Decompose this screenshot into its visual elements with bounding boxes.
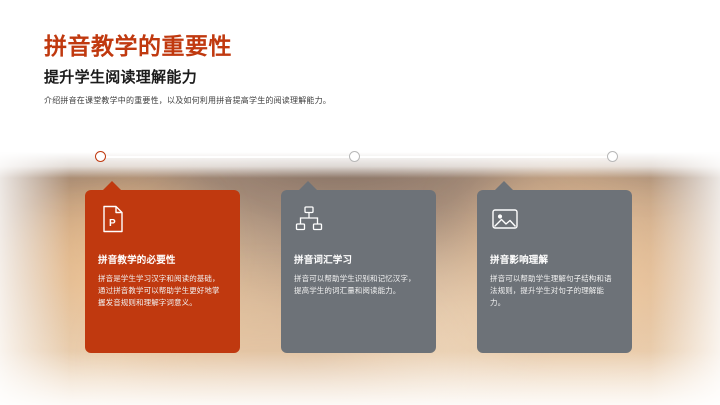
slide-canvas: 拼音教学的重要性 提升学生阅读理解能力 介绍拼音在课堂教学中的重要性，以及如何利… (0, 0, 720, 405)
timeline (100, 156, 613, 158)
hierarchy-network-icon (294, 204, 324, 234)
card-title: 拼音词汇学习 (294, 252, 423, 266)
timeline-marker-3[interactable] (607, 151, 618, 162)
page-subtitle: 提升学生阅读理解能力 (44, 66, 197, 87)
card-pointer (299, 181, 317, 190)
card-body: 拼音可以帮助学生理解句子结构和语法规则，提升学生对句子的理解能力。 (490, 273, 619, 309)
card-vocabulary[interactable]: 拼音词汇学习 拼音可以帮助学生识别和记忆汉字，提高学生的词汇量和阅读能力。 (281, 190, 436, 353)
card-pointer (495, 181, 513, 190)
card-comprehension[interactable]: 拼音影响理解 拼音可以帮助学生理解句子结构和语法规则，提升学生对句子的理解能力。 (477, 190, 632, 353)
right-vignette (650, 0, 720, 405)
card-body: 拼音可以帮助学生识别和记忆汉字，提高学生的词汇量和阅读能力。 (294, 273, 423, 297)
card-title: 拼音影响理解 (490, 252, 619, 266)
card-pointer (103, 181, 121, 190)
timeline-marker-1[interactable] (95, 151, 106, 162)
timeline-marker-2[interactable] (349, 151, 360, 162)
card-title: 拼音教学的必要性 (98, 252, 227, 266)
bottom-vignette (0, 351, 720, 405)
page-title: 拼音教学的重要性 (44, 27, 232, 61)
image-picture-icon (490, 204, 520, 234)
card-necessity[interactable]: P 拼音教学的必要性 拼音是学生学习汉字和阅读的基础，通过拼音教学可以帮助学生更… (85, 190, 240, 353)
page-description: 介绍拼音在课堂教学中的重要性，以及如何利用拼音提高学生的阅读理解能力。 (44, 95, 331, 106)
svg-text:P: P (109, 218, 116, 229)
document-p-icon: P (98, 204, 128, 234)
card-body: 拼音是学生学习汉字和阅读的基础，通过拼音教学可以帮助学生更好地掌握发音规则和理解… (98, 273, 227, 309)
